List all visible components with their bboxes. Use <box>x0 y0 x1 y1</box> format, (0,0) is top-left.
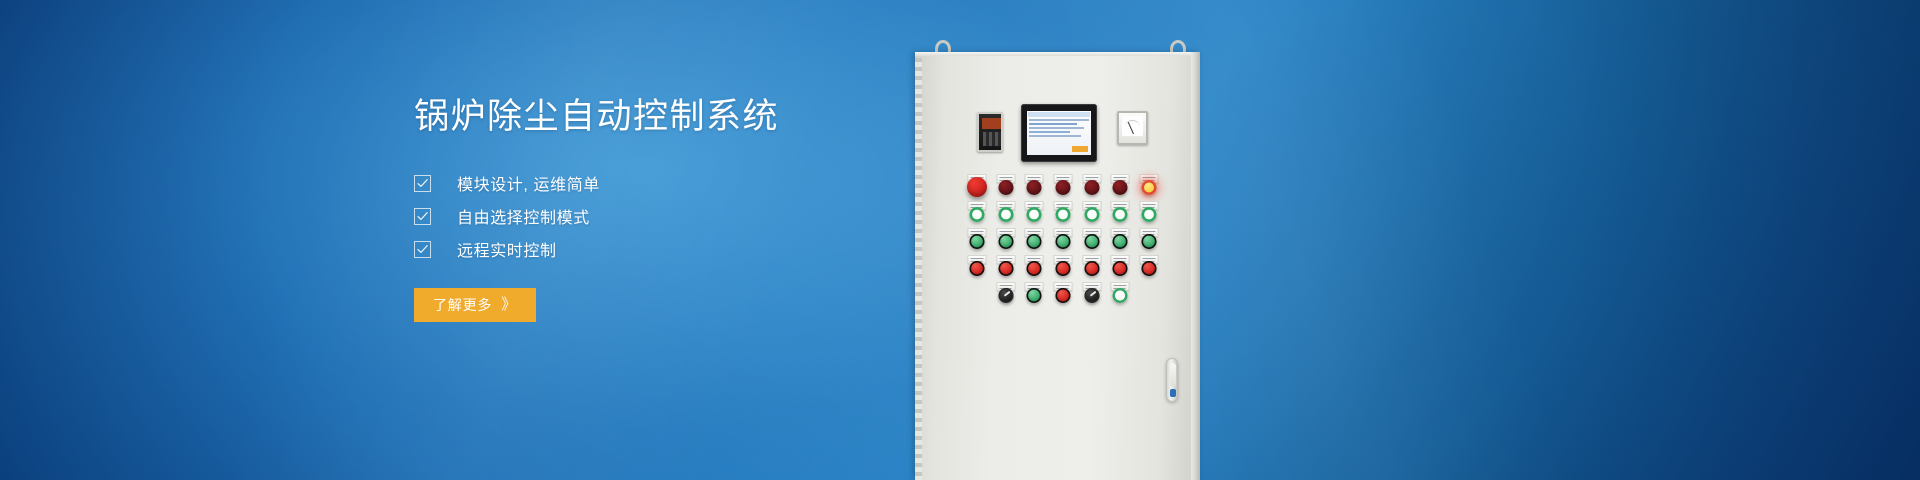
chevron-right-icon: 》 <box>501 297 517 312</box>
stop-button-red[interactable] <box>1056 288 1071 303</box>
indicator-lamp-white[interactable] <box>1141 207 1156 222</box>
cabinet-top-lip <box>915 52 1200 56</box>
door-handle[interactable] <box>1166 358 1178 402</box>
button-cell-empty <box>1134 282 1163 309</box>
button-cell <box>1020 228 1049 255</box>
hero-banner: 锅炉除尘自动控制系统 模块设计, 运维简单 自由选择控制模式 <box>0 0 1920 480</box>
row-indicator-white <box>963 201 1163 228</box>
feature-label: 模块设计, 运维简单 <box>457 171 600 195</box>
digital-meter-screen <box>982 118 1002 129</box>
hmi-screen-rows <box>1027 119 1091 137</box>
emergency-stop-button[interactable] <box>967 177 987 197</box>
button-cell <box>1077 228 1106 255</box>
button-cell <box>992 201 1021 228</box>
learn-more-button[interactable]: 了解更多 》 <box>414 288 536 322</box>
start-button-green[interactable] <box>970 234 985 249</box>
digital-meter[interactable] <box>977 112 1003 152</box>
button-cell <box>1020 255 1049 282</box>
button-cell <box>1106 282 1135 309</box>
button-cell <box>1134 228 1163 255</box>
hero-copy: 锅炉除尘自动控制系统 模块设计, 运维简单 自由选择控制模式 <box>414 98 934 322</box>
indicator-lamp-red[interactable] <box>998 180 1013 195</box>
button-cell <box>1049 174 1078 201</box>
button-cell <box>1077 282 1106 309</box>
page-title: 锅炉除尘自动控制系统 <box>414 98 934 137</box>
start-button-green[interactable] <box>1141 234 1156 249</box>
button-cell <box>1134 255 1163 282</box>
stop-button-red[interactable] <box>1027 261 1042 276</box>
learn-more-label: 了解更多 <box>433 295 492 315</box>
start-button-green[interactable] <box>998 234 1013 249</box>
button-cell <box>1077 201 1106 228</box>
button-cell <box>1106 201 1135 228</box>
hmi-touchscreen[interactable] <box>1021 104 1097 162</box>
start-button-green[interactable] <box>1113 234 1128 249</box>
indicator-lamp-white[interactable] <box>1113 288 1128 303</box>
stop-button-red[interactable] <box>970 261 985 276</box>
button-cell <box>1077 255 1106 282</box>
hmi-screen[interactable] <box>1027 111 1091 155</box>
indicator-lamp-white[interactable] <box>1084 207 1099 222</box>
selector-switch[interactable] <box>998 288 1013 303</box>
button-cell <box>1020 201 1049 228</box>
feature-label: 远程实时控制 <box>457 237 557 261</box>
button-cell <box>963 201 992 228</box>
indicator-lamp-white[interactable] <box>1027 207 1042 222</box>
button-cell <box>1020 282 1049 309</box>
start-button-green[interactable] <box>1027 288 1042 303</box>
button-cell <box>992 282 1021 309</box>
stop-button-red[interactable] <box>1084 261 1099 276</box>
button-cell <box>1134 201 1163 228</box>
indicator-lamp-red[interactable] <box>1113 180 1128 195</box>
hmi-screen-titlebar <box>1028 112 1090 117</box>
button-cell <box>1106 255 1135 282</box>
stop-button-red[interactable] <box>1113 261 1128 276</box>
indicator-lamp-amber-lit[interactable] <box>1141 180 1156 195</box>
feature-list: 模块设计, 运维简单 自由选择控制模式 远程实时控制 <box>414 167 934 266</box>
button-cell <box>992 255 1021 282</box>
button-cell <box>1134 174 1163 201</box>
cabinet-body <box>915 52 1200 480</box>
indicator-lamp-white[interactable] <box>1113 207 1128 222</box>
indicator-lamp-white[interactable] <box>1056 207 1071 222</box>
button-cell <box>1020 174 1049 201</box>
analog-gauge <box>1117 111 1148 145</box>
button-cell <box>963 174 992 201</box>
digital-meter-keys[interactable] <box>983 132 1001 146</box>
start-button-green[interactable] <box>1056 234 1071 249</box>
control-cabinet <box>915 52 1200 480</box>
button-cell <box>1106 174 1135 201</box>
list-item: 远程实时控制 <box>414 233 934 266</box>
row-selectors <box>963 282 1163 309</box>
indicator-lamp-red[interactable] <box>1084 180 1099 195</box>
indicator-lamp-white[interactable] <box>998 207 1013 222</box>
button-cell <box>1049 282 1078 309</box>
button-grid <box>963 174 1163 309</box>
start-button-green[interactable] <box>1084 234 1099 249</box>
stop-button-red[interactable] <box>998 261 1013 276</box>
button-cell <box>992 228 1021 255</box>
analog-gauge-dial <box>1122 116 1143 136</box>
button-cell <box>1049 228 1078 255</box>
check-icon <box>414 208 431 225</box>
indicator-lamp-red[interactable] <box>1027 180 1042 195</box>
button-cell <box>992 174 1021 201</box>
list-item: 模块设计, 运维简单 <box>414 167 934 200</box>
button-cell <box>1077 174 1106 201</box>
start-button-green[interactable] <box>1027 234 1042 249</box>
row-stop-red <box>963 255 1163 282</box>
check-icon <box>414 175 431 192</box>
indicator-lamp-red[interactable] <box>1056 180 1071 195</box>
button-cell-empty <box>963 282 992 309</box>
button-cell <box>963 228 992 255</box>
button-cell <box>963 255 992 282</box>
selector-switch[interactable] <box>1084 288 1099 303</box>
stop-button-red[interactable] <box>1056 261 1071 276</box>
instrument-row <box>915 108 1200 170</box>
row-start-green <box>963 228 1163 255</box>
button-cell <box>1049 201 1078 228</box>
check-icon <box>414 241 431 258</box>
hmi-screen-button[interactable] <box>1072 146 1088 152</box>
indicator-lamp-white[interactable] <box>970 207 985 222</box>
feature-label: 自由选择控制模式 <box>457 204 590 228</box>
button-cell <box>1106 228 1135 255</box>
row-emergency-stop <box>963 174 1163 201</box>
stop-button-red[interactable] <box>1141 261 1156 276</box>
list-item: 自由选择控制模式 <box>414 200 934 233</box>
button-cell <box>1049 255 1078 282</box>
